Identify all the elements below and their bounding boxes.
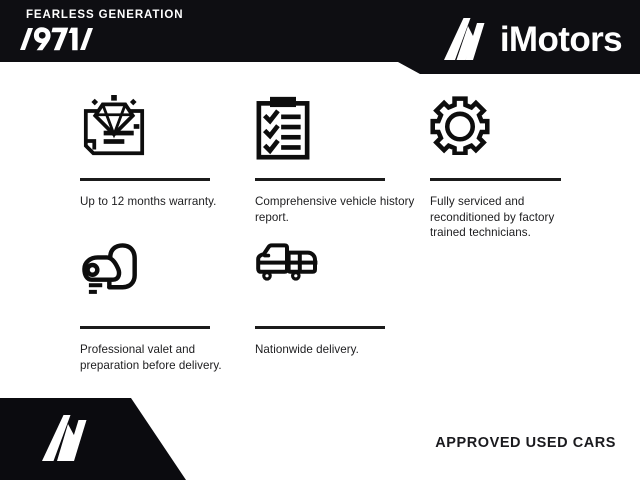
feature-delivery: Nationwide delivery. [255, 243, 430, 358]
brand-name: iMotors [500, 22, 622, 57]
gear-cog-icon [430, 95, 605, 170]
header-tagline: FEARLESS GENERATION [26, 10, 183, 22]
header-bar: FEARLESS GENERATION [0, 0, 640, 74]
feature-caption: Up to 12 months warranty. [80, 194, 230, 210]
feature-warranty: Up to 12 months warranty. [80, 95, 255, 210]
feature-caption: Professional valet and preparation befor… [80, 342, 230, 373]
approved-used-cars-label: APPROVED USED CARS [435, 435, 616, 451]
feature-caption: Nationwide delivery. [255, 342, 415, 358]
imotors-chevron-logo-icon [443, 17, 489, 61]
brand-lockup: iMotors [443, 17, 622, 61]
feature-divider [255, 326, 385, 329]
feature-caption: Comprehensive vehicle history report. [255, 194, 415, 225]
feature-serviced: Fully serviced and reconditioned by fact… [430, 95, 605, 241]
feature-caption: Fully serviced and reconditioned by fact… [430, 194, 570, 241]
feature-valet: Professional valet and preparation befor… [80, 243, 255, 373]
feature-history-report: Comprehensive vehicle history report. [255, 95, 430, 225]
year-1971-icon [14, 24, 94, 54]
vacuum-cleaner-icon [80, 243, 255, 318]
clipboard-checklist-icon [255, 95, 430, 170]
car-transporter-truck-icon [255, 243, 430, 318]
warranty-certificate-diamond-icon [80, 95, 255, 170]
feature-divider [430, 178, 561, 181]
feature-divider [80, 178, 210, 181]
footer-imotors-chevron-logo-icon [40, 414, 92, 462]
promo-banner: FEARLESS GENERATION [0, 0, 640, 480]
feature-divider [80, 326, 210, 329]
feature-divider [255, 178, 385, 181]
footer-shape [0, 398, 200, 480]
